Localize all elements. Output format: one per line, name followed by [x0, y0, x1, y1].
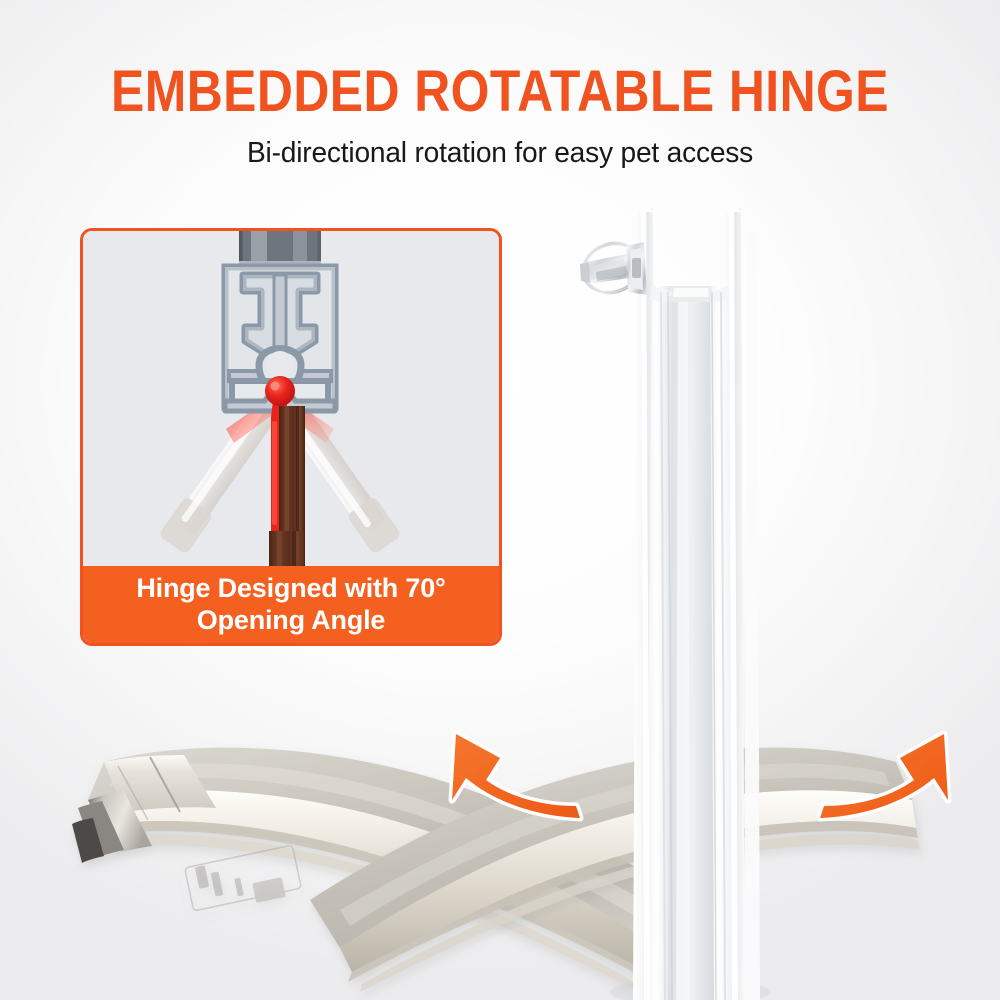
rotation-arrow-left [452, 734, 580, 818]
caption-line-2: Opening Angle [197, 605, 385, 637]
curved-gate-panel-right [310, 748, 920, 992]
wall-mount-bracket [577, 236, 647, 300]
rotation-arrow-right [820, 734, 948, 818]
hinge-detail-panel: Hinge Designed with 70° Opening Angle [80, 228, 502, 646]
page-title: EMBEDDED ROTATABLE HINGE [70, 0, 930, 121]
curved-gate-panel-left [72, 748, 690, 992]
hinge-caption-banner: Hinge Designed with 70° Opening Angle [82, 566, 500, 644]
page-subtitle: Bi-directional rotation for easy pet acc… [15, 121, 985, 170]
product-feature-graphic: EMBEDDED ROTATABLE HINGE Bi-directional … [0, 0, 1000, 1000]
gate-embossed-label [185, 845, 302, 911]
white-aluminum-post [610, 207, 770, 1000]
header: EMBEDDED ROTATABLE HINGE Bi-directional … [0, 0, 1000, 170]
caption-line-1: Hinge Designed with 70° [136, 573, 445, 605]
